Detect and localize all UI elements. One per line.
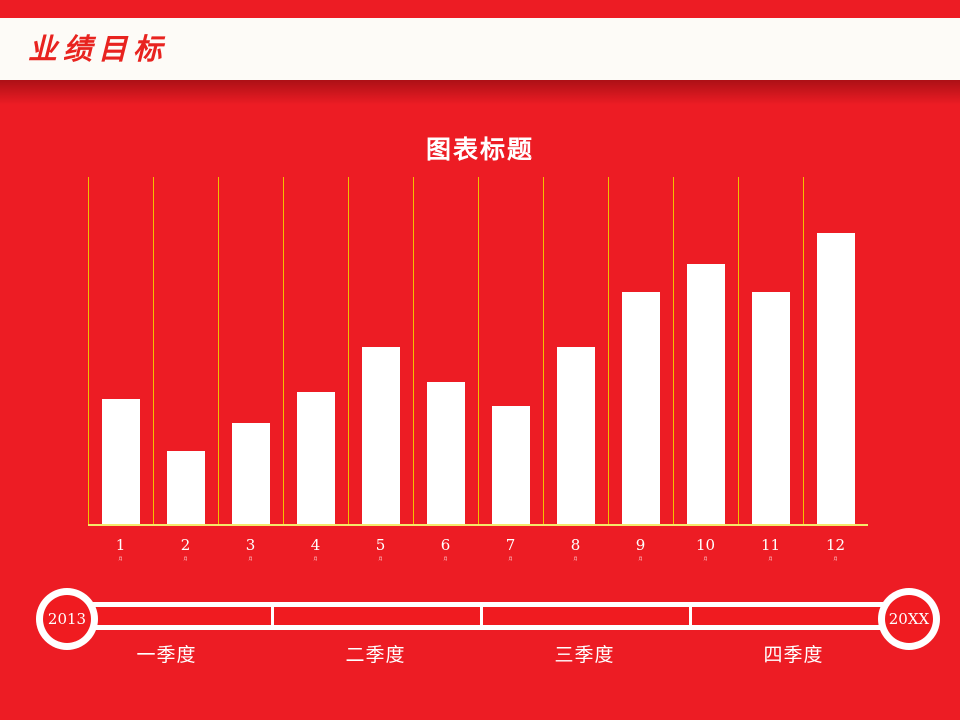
chart-bar bbox=[297, 392, 335, 524]
chart-x-tick-number: 6 bbox=[416, 536, 476, 554]
chart-gridline bbox=[413, 177, 414, 524]
chart-x-tick: 2月 bbox=[156, 536, 216, 564]
chart-x-tick-number: 5 bbox=[351, 536, 411, 554]
quarter-label: 二季度 bbox=[276, 640, 476, 667]
header-shadow bbox=[0, 80, 960, 106]
chart-plot-area bbox=[88, 177, 868, 524]
chart-title: 图表标题 bbox=[0, 130, 960, 166]
chart-x-tick: 1月 bbox=[91, 536, 151, 564]
timeline-segment-divider bbox=[689, 607, 692, 625]
chart-x-tick-number: 1 bbox=[91, 536, 151, 554]
chart-x-tick: 8月 bbox=[546, 536, 606, 564]
chart-x-tick-number: 11 bbox=[741, 536, 801, 554]
chart-x-tick: 12月 bbox=[806, 536, 866, 564]
chart-gridline bbox=[348, 177, 349, 524]
chart-gridline bbox=[738, 177, 739, 524]
chart-gridline bbox=[218, 177, 219, 524]
chart-bar bbox=[622, 292, 660, 524]
chart-x-tick-number: 10 bbox=[676, 536, 736, 554]
chart-x-tick-unit: 月 bbox=[351, 554, 411, 564]
chart-bar bbox=[687, 264, 725, 524]
chart-x-tick-number: 7 bbox=[481, 536, 541, 554]
chart-bar bbox=[492, 406, 530, 524]
chart-gridline bbox=[153, 177, 154, 524]
chart-x-axis-line bbox=[88, 524, 868, 526]
chart-x-tick-unit: 月 bbox=[286, 554, 346, 564]
chart-x-tick: 4月 bbox=[286, 536, 346, 564]
chart-gridline bbox=[543, 177, 544, 524]
chart-gridline bbox=[608, 177, 609, 524]
chart-x-tick-unit: 月 bbox=[741, 554, 801, 564]
chart-x-tick: 7月 bbox=[481, 536, 541, 564]
chart-gridline bbox=[478, 177, 479, 524]
page-title: 业绩目标 bbox=[28, 26, 168, 68]
chart-gridline bbox=[673, 177, 674, 524]
chart-x-tick-number: 2 bbox=[156, 536, 216, 554]
chart-x-tick: 11月 bbox=[741, 536, 801, 564]
chart-x-tick-unit: 月 bbox=[806, 554, 866, 564]
timeline-segment-divider bbox=[480, 607, 483, 625]
chart-x-tick-unit: 月 bbox=[156, 554, 216, 564]
chart-x-tick: 3月 bbox=[221, 536, 281, 564]
quarter-label: 三季度 bbox=[485, 640, 685, 667]
timeline-end-label: 20XX bbox=[885, 595, 933, 643]
header-band: 业绩目标 bbox=[0, 18, 960, 80]
chart-x-tick-unit: 月 bbox=[91, 554, 151, 564]
chart-x-tick-number: 9 bbox=[611, 536, 671, 554]
chart-x-tick-unit: 月 bbox=[481, 554, 541, 564]
quarter-label: 四季度 bbox=[694, 640, 894, 667]
chart-bar bbox=[817, 233, 855, 524]
chart-x-tick: 5月 bbox=[351, 536, 411, 564]
timeline-track bbox=[62, 602, 898, 630]
chart-bar bbox=[427, 382, 465, 524]
chart-bar bbox=[557, 347, 595, 524]
chart-x-tick-unit: 月 bbox=[676, 554, 736, 564]
chart-bar bbox=[752, 292, 790, 524]
chart-x-tick-number: 3 bbox=[221, 536, 281, 554]
chart-x-tick-unit: 月 bbox=[416, 554, 476, 564]
chart-x-tick-number: 12 bbox=[806, 536, 866, 554]
chart-x-tick-unit: 月 bbox=[221, 554, 281, 564]
chart-gridline bbox=[283, 177, 284, 524]
timeline-segment-divider bbox=[271, 607, 274, 625]
chart-x-tick: 6月 bbox=[416, 536, 476, 564]
chart-x-tick-unit: 月 bbox=[546, 554, 606, 564]
chart-x-tick: 10月 bbox=[676, 536, 736, 564]
chart-x-tick-number: 4 bbox=[286, 536, 346, 554]
chart-bar bbox=[362, 347, 400, 524]
chart-gridline bbox=[803, 177, 804, 524]
chart-bar bbox=[102, 399, 140, 524]
timeline-start-label: 2013 bbox=[43, 595, 91, 643]
chart-x-tick-number: 8 bbox=[546, 536, 606, 554]
chart-bar bbox=[167, 451, 205, 524]
chart-gridline bbox=[88, 177, 89, 524]
quarter-label: 一季度 bbox=[67, 640, 267, 667]
chart-x-tick: 9月 bbox=[611, 536, 671, 564]
chart-bar bbox=[232, 423, 270, 524]
chart-x-tick-unit: 月 bbox=[611, 554, 671, 564]
